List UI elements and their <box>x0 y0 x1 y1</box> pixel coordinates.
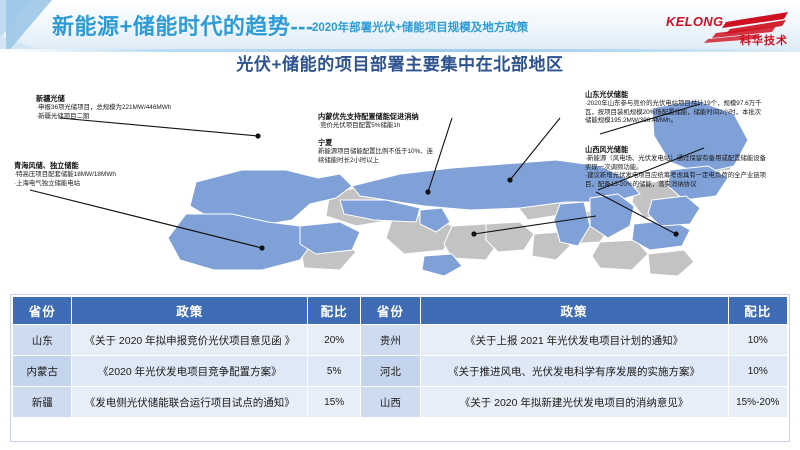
callout-ningxia-line-1: 新能源项目储能配置比例不低于10%、连续储能时长2小时以上 <box>318 148 436 166</box>
table-row: 新疆 《发电侧光伏储能联合运行项目试点的通知》 15% 山西 《关于 2020 … <box>13 387 788 418</box>
table-row: 山东 《关于 2020 年拟申报竞价光伏项目意见函 》 20% 贵州 《关于上报… <box>13 325 788 356</box>
cell-province-right: 贵州 <box>361 325 420 356</box>
header-subtitle: 2020年部署光伏+储能项目规模及地方政策 <box>312 19 528 35</box>
col-header-province-right: 省份 <box>361 297 420 325</box>
callout-shanxi-line-1: ·新能源（风电场、光伏发电站）通过保留有备用或配置储能设备实现一次调频功能。 <box>585 155 767 173</box>
policy-table: 省份 政策 配比 省份 政策 配比 山东 《关于 2020 年拟申报竞价光伏项目… <box>12 296 788 418</box>
table-header-row: 省份 政策 配比 省份 政策 配比 <box>13 297 788 325</box>
cell-province-left: 内蒙古 <box>13 356 72 387</box>
callout-qinghai-title: 青海风储、独立储能 <box>14 161 116 171</box>
col-header-policy-right: 政策 <box>420 297 728 325</box>
logo-text-cn: 科华技术 <box>740 32 788 48</box>
callout-shanxi-title: 山西风光储能 <box>585 145 767 155</box>
callout-xinjiang-line-1: ·申报36项光储项目，总规模为221MW/446MWh <box>36 104 171 113</box>
callout-ningxia-body: 新能源项目储能配置比例不低于10%、连续储能时长2小时以上 <box>318 148 436 166</box>
callout-qinghai: 青海风储、独立储能 ·特高压项目配套储能18MW/18MWh ·上海电气独立储能… <box>14 161 116 188</box>
header-title: 新能源+储能时代的趋势--- <box>52 9 314 41</box>
cell-policy-left: 《关于 2020 年拟申报竞价光伏项目意见函 》 <box>72 325 308 356</box>
cell-ratio-left: 15% <box>308 387 361 418</box>
policy-table-body: 山东 《关于 2020 年拟申报竞价光伏项目意见函 》 20% 贵州 《关于上报… <box>13 325 788 418</box>
callout-xinjiang-line-2: ·新疆光储项目二期 <box>36 113 171 122</box>
col-header-policy-left: 政策 <box>72 297 308 325</box>
cell-policy-right: 《关于推进风电、光伏发电科学有序发展的实施方案》 <box>420 356 728 387</box>
callout-ningxia: 宁夏 新能源项目储能配置比例不低于10%、连续储能时长2小时以上 <box>318 138 436 165</box>
cell-province-left: 新疆 <box>13 387 72 418</box>
callout-qinghai-body: ·特高压项目配套储能18MW/18MWh ·上海电气独立储能电站 <box>14 171 116 189</box>
cell-ratio-right: 15%-20% <box>728 387 788 418</box>
callout-shandong-body: ·2020年山东参与竞价的光伏电站项目共计19个，规模97.6万千瓦，按项目装机… <box>585 100 765 126</box>
callout-shandong-line-1: ·2020年山东参与竞价的光伏电站项目共计19个，规模97.6万千瓦，按项目装机… <box>585 100 765 126</box>
table-row: 内蒙古 《2020 年光伏发电项目竞争配置方案》 5% 河北 《关于推进风电、光… <box>13 356 788 387</box>
callout-shanxi: 山西风光储能 ·新能源（风电场、光伏发电站）通过保留有备用或配置储能设备实现一次… <box>585 145 767 190</box>
col-header-ratio-right: 配比 <box>728 297 788 325</box>
cell-province-right: 山西 <box>361 387 420 418</box>
col-header-ratio-left: 配比 <box>308 297 361 325</box>
callout-neimenggu-body: ·竞价光伏项目配置5%储能1h <box>318 122 419 131</box>
cell-ratio-left: 5% <box>308 356 361 387</box>
cell-province-left: 山东 <box>13 325 72 356</box>
logo-text-en: KELONG <box>666 14 723 29</box>
slide-page: 新能源+储能时代的趋势--- 2020年部署光伏+储能项目规模及地方政策 KEL… <box>0 0 800 450</box>
callout-shandong-title: 山东光伏储能 <box>585 90 765 100</box>
cell-policy-left: 《发电侧光伏储能联合运行项目试点的通知》 <box>72 387 308 418</box>
callout-xinjiang-body: ·申报36项光储项目，总规模为221MW/446MWh ·新疆光储项目二期 <box>36 104 171 122</box>
policy-table-header: 省份 政策 配比 省份 政策 配比 <box>13 297 788 325</box>
callout-shanxi-line-2: ·建议新增光伏发电项目应统筹考虑具有一定电负荷的全产业链项目，配备15-20%的… <box>585 172 767 190</box>
slide-header: 新能源+储能时代的趋势--- 2020年部署光伏+储能项目规模及地方政策 KEL… <box>0 0 800 52</box>
callout-neimenggu-line-1: ·竞价光伏项目配置5%储能1h <box>318 122 419 131</box>
callout-shanxi-body: ·新能源（风电场、光伏发电站）通过保留有备用或配置储能设备实现一次调频功能。 ·… <box>585 155 767 190</box>
callout-qinghai-line-1: ·特高压项目配套储能18MW/18MWh <box>14 171 116 180</box>
callout-qinghai-line-2: ·上海电气独立储能电站 <box>14 180 116 189</box>
cell-policy-right: 《关于 2020 年拟新建光伏发电项目的消纳意见》 <box>420 387 728 418</box>
cell-ratio-right: 10% <box>728 356 788 387</box>
kelong-logo: KELONG 科华技术 <box>664 6 792 48</box>
cell-policy-right: 《关于上报 2021 年光伏发电项目计划的通知》 <box>420 325 728 356</box>
cell-ratio-left: 20% <box>308 325 361 356</box>
cell-ratio-right: 10% <box>728 325 788 356</box>
cell-policy-left: 《2020 年光伏发电项目竞争配置方案》 <box>72 356 308 387</box>
callout-shandong: 山东光伏储能 ·2020年山东参与竞价的光伏电站项目共计19个，规模97.6万千… <box>585 90 765 126</box>
callout-neimenggu-title: 内蒙优先支持配置储能促进消纳 <box>318 112 419 122</box>
map-title: 光伏+储能的项目部署主要集中在北部地区 <box>0 50 800 75</box>
col-header-province-left: 省份 <box>13 297 72 325</box>
callout-ningxia-title: 宁夏 <box>318 138 436 148</box>
cell-province-right: 河北 <box>361 356 420 387</box>
callout-xinjiang-title: 新疆光储 <box>36 94 171 104</box>
callout-xinjiang: 新疆光储 ·申报36项光储项目，总规模为221MW/446MWh ·新疆光储项目… <box>36 94 171 121</box>
callout-neimenggu: 内蒙优先支持配置储能促进消纳 ·竞价光伏项目配置5%储能1h <box>318 112 419 131</box>
header-triangle-decoration-accent <box>6 0 52 52</box>
